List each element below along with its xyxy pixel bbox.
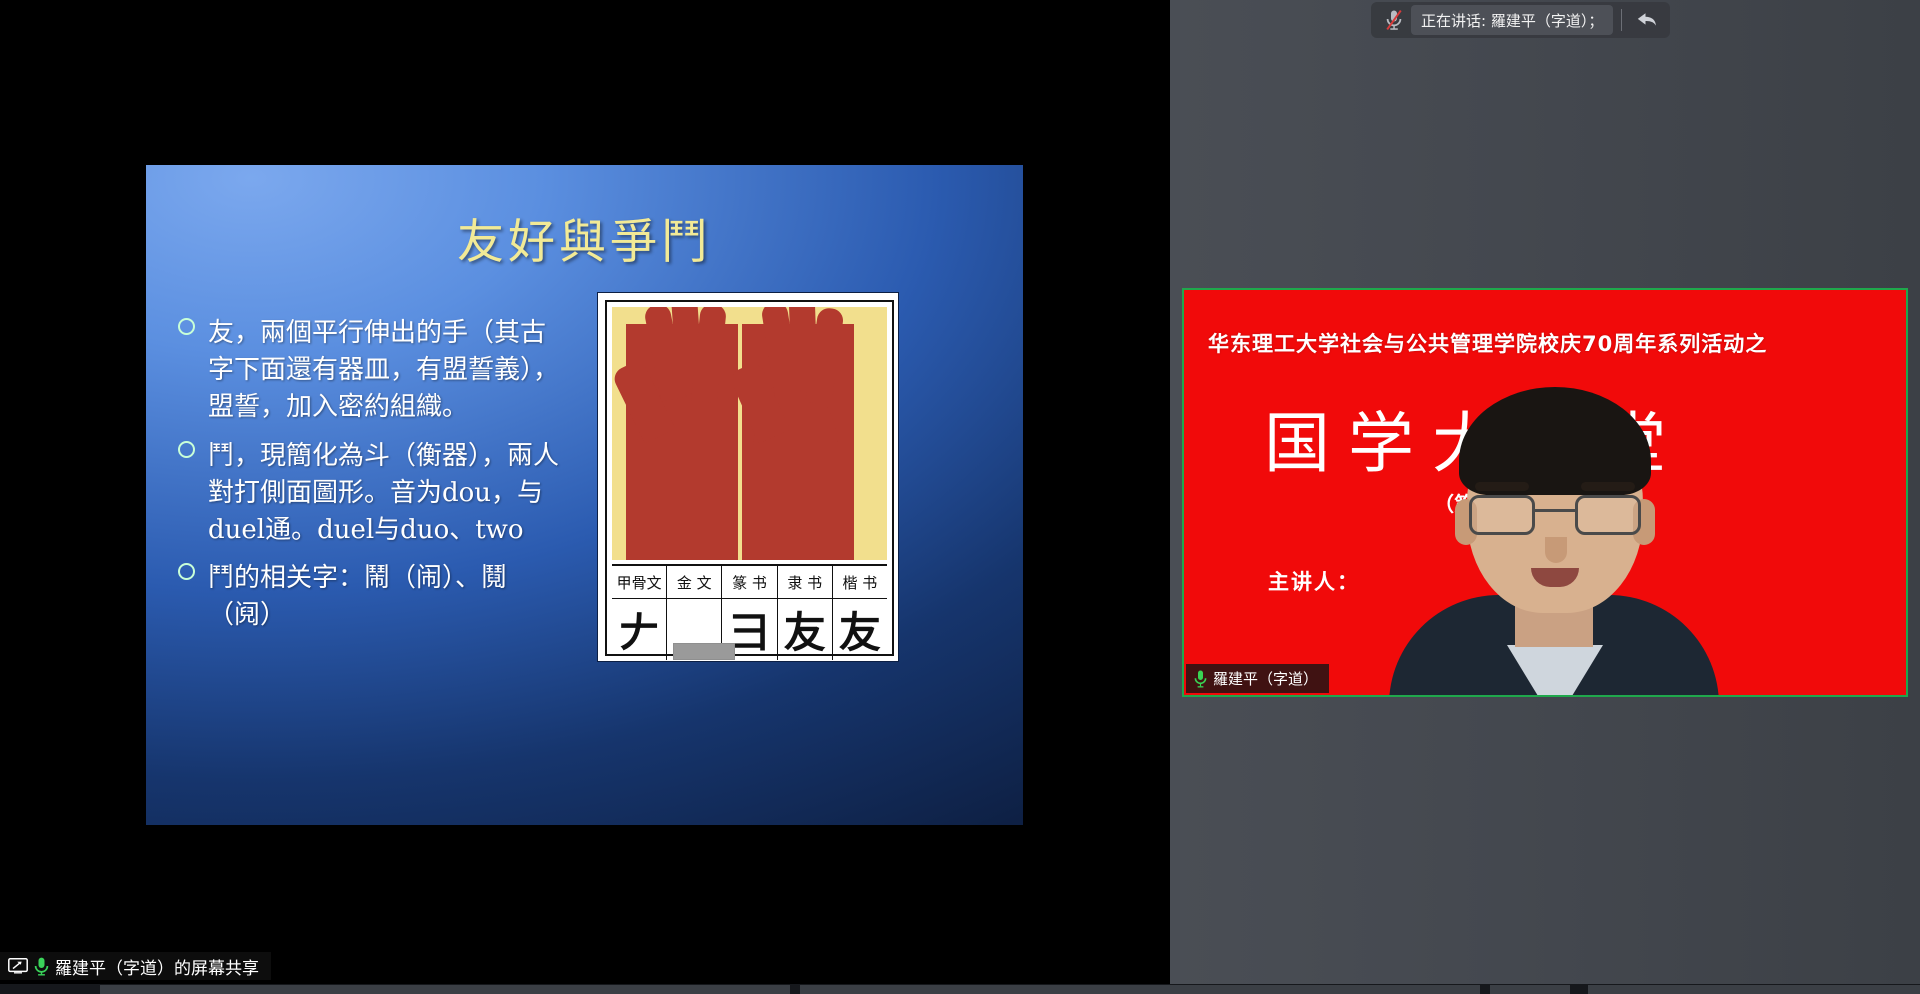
shared-screen-region[interactable]: 友好與爭鬥 友，兩個平行伸出的手（其古字下面還有器皿，有盟誓義），盟誓，加入密約… (0, 0, 1170, 994)
mic-muted-icon[interactable] (1377, 5, 1411, 35)
speaking-label-chip: 正在讲话: 羅建平（字道）； (1411, 5, 1613, 35)
screen-share-status-label: 羅建平（字道）的屏幕共享 (55, 954, 259, 979)
hand-left-shape (626, 324, 738, 560)
taskbar-item[interactable] (1588, 985, 1920, 994)
hand-right-shape (742, 324, 854, 560)
taskbar-item[interactable] (1490, 985, 1570, 994)
backdrop-banner-text: 华东理工大学社会与公共管理学院校庆70周年系列活动之 (1208, 328, 1767, 358)
participant-name-badge: 羅建平（字道） (1186, 664, 1329, 693)
reply-arrow-icon[interactable] (1630, 5, 1664, 35)
slide-bullet-list: 友，兩個平行伸出的手（其古字下面還有器皿，有盟誓義），盟誓，加入密約組織。 鬥，… (178, 315, 568, 646)
participant-name: 羅建平（字道） (1213, 668, 1318, 689)
desktop-taskbar[interactable] (0, 984, 1920, 994)
zoom-meeting-window: 友好與爭鬥 友，兩個平行伸出的手（其古字下面還有器皿，有盟誓義），盟誓，加入密約… (0, 0, 1920, 994)
mic-on-icon (1194, 670, 1207, 688)
script-glyph-cell: 友 (778, 599, 833, 660)
active-speaker-video-tile[interactable]: 华东理工大学社会与公共管理学院校庆70周年系列活动之 国学大讲堂 （第一 主讲人… (1182, 288, 1908, 697)
slide-gray-placeholder (673, 643, 735, 660)
script-header-cell: 楷 书 (833, 566, 887, 599)
slide-bullet-1: 友，兩個平行伸出的手（其古字下面還有器皿，有盟誓義），盟誓，加入密約組織。 (178, 315, 568, 426)
screen-share-status-bar: 羅建平（字道）的屏幕共享 (0, 952, 271, 980)
bullet-marker-icon (178, 318, 195, 335)
eyeglasses-icon (1465, 495, 1645, 537)
script-header-cell: 金 文 (667, 566, 722, 599)
script-header-cell: 隶 书 (778, 566, 833, 599)
mic-on-icon (34, 957, 49, 976)
slide-image-inner: 甲骨文 金 文 篆 书 隶 书 楷 书 𠂇 𢪔 彐 友 友 (605, 300, 894, 656)
speaking-label: 正在讲话: 羅建平（字道）； (1421, 10, 1603, 31)
slide-bullet-2: 鬥，現簡化為斗（衡器），兩人對打側面圖形。音为dou，与duel通。duel与d… (178, 438, 568, 549)
slide-bullet-1-text: 友，兩個平行伸出的手（其古字下面還有器皿，有盟誓義），盟誓，加入密約組織。 (208, 318, 559, 422)
participant-video-panel: 华东理工大学社会与公共管理学院校庆70周年系列活动之 国学大讲堂 （第一 主讲人… (1170, 0, 1920, 994)
taskbar-item[interactable] (800, 985, 1480, 994)
two-hands-illustration (612, 307, 887, 560)
slide-title: 友好與爭鬥 (146, 203, 1023, 272)
slide-bullet-3: 鬥的相关字：鬧（闹）、鬩（阋） (178, 560, 568, 634)
slide-bullet-3-text: 鬥的相关字：鬧（闹）、鬩（阋） (208, 563, 507, 630)
speaking-indicator-bar[interactable]: 正在讲话: 羅建平（字道）； (1371, 2, 1670, 38)
slide-bullet-2-text: 鬥，現簡化為斗（衡器），兩人對打側面圖形。音为dou，与duel通。duel与d… (208, 441, 559, 545)
script-evolution-table: 甲骨文 金 文 篆 书 隶 书 楷 书 𠂇 𢪔 彐 友 友 (612, 564, 887, 660)
script-glyph-cell: 友 (833, 599, 887, 660)
toolbar-divider (1621, 9, 1622, 31)
presentation-slide: 友好與爭鬥 友，兩個平行伸出的手（其古字下面還有器皿，有盟誓義），盟誓，加入密約… (146, 165, 1023, 825)
shared-screen-letterbox-top (0, 0, 1170, 165)
presenter-figure (1389, 365, 1719, 697)
script-header-cell: 甲骨文 (612, 566, 667, 599)
script-table-header-row: 甲骨文 金 文 篆 书 隶 书 楷 书 (612, 566, 887, 599)
script-table-glyph-row: 𠂇 𢪔 彐 友 友 (612, 599, 887, 660)
bullet-marker-icon (178, 563, 195, 580)
script-header-cell: 篆 书 (722, 566, 777, 599)
backdrop-speaker-label: 主讲人： (1268, 566, 1360, 596)
taskbar-item[interactable] (100, 985, 790, 994)
script-glyph-cell: 𠂇 (612, 599, 667, 660)
slide-image-frame: 甲骨文 金 文 篆 书 隶 书 楷 书 𠂇 𢪔 彐 友 友 (598, 293, 898, 661)
bullet-marker-icon (178, 441, 195, 458)
screen-share-icon (8, 958, 28, 974)
